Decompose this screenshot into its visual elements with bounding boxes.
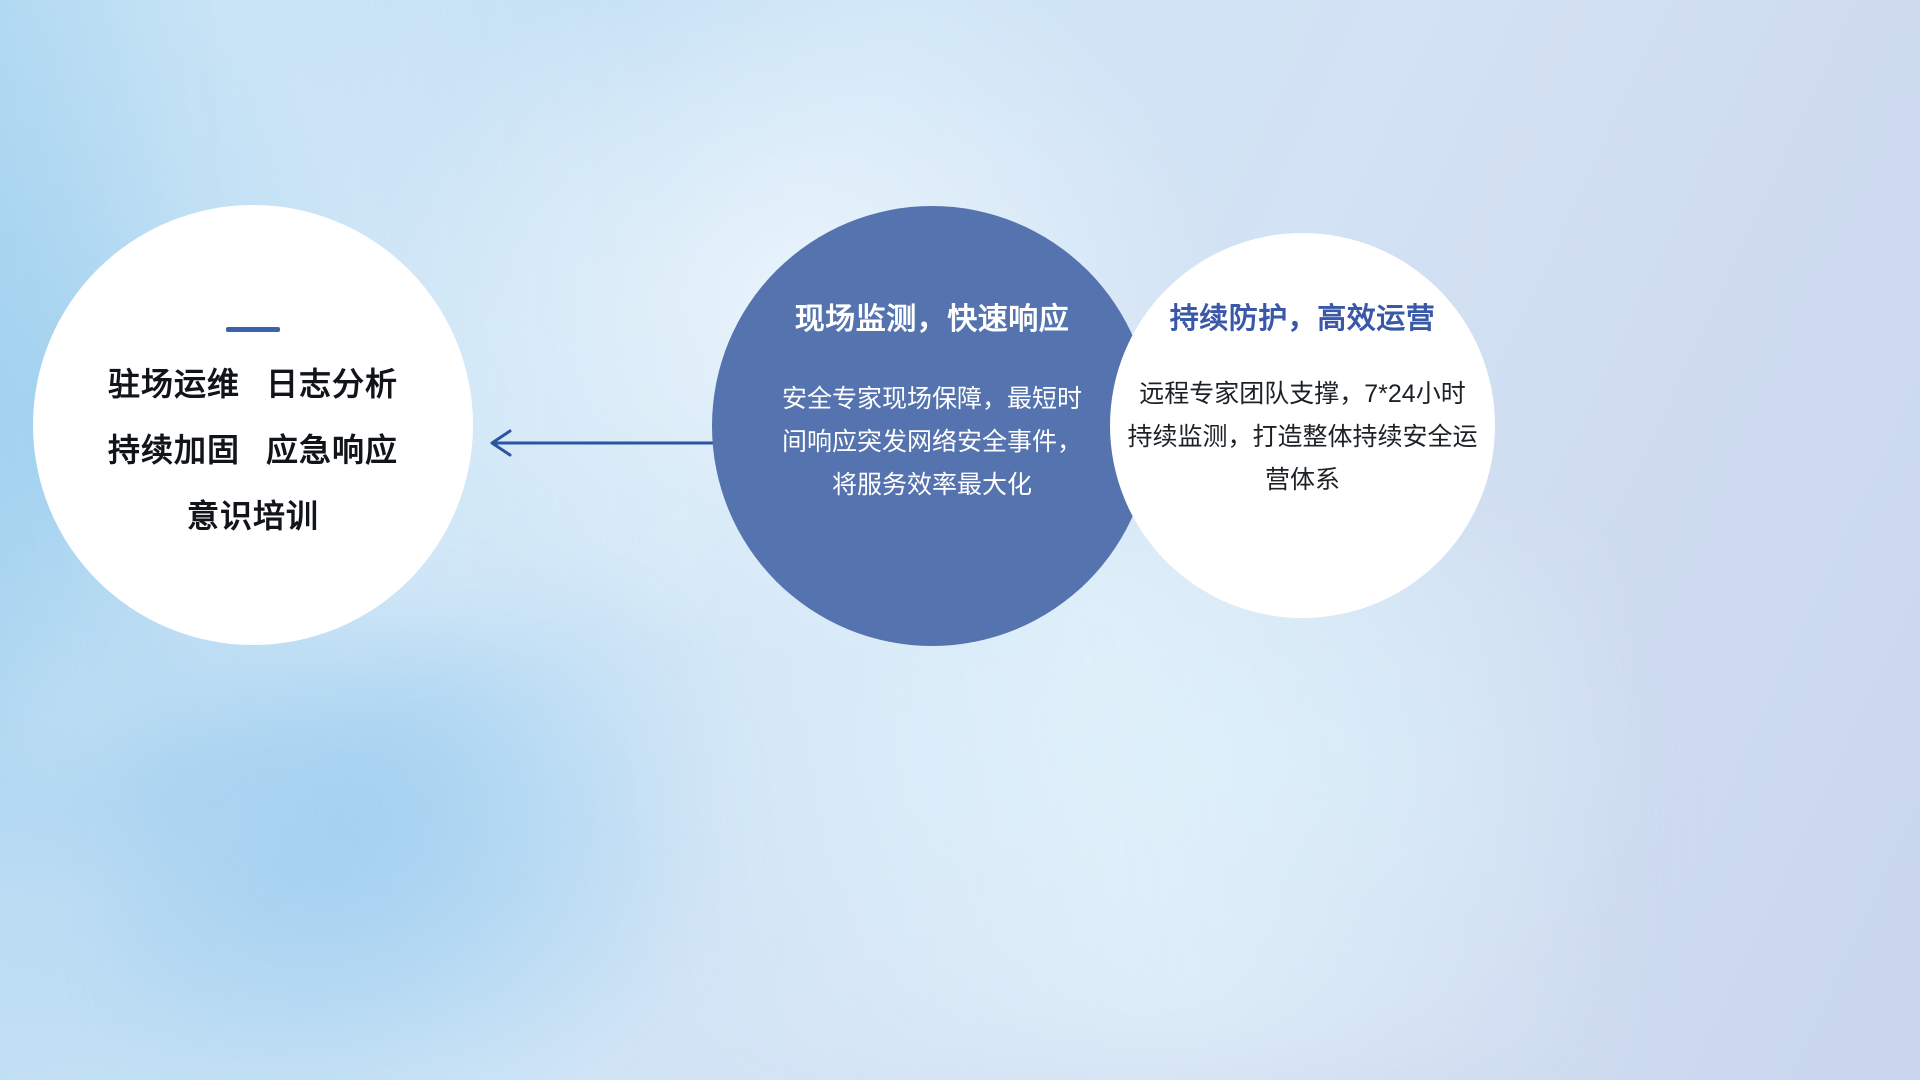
background-sheen-bottom: [640, 520, 1620, 1080]
capabilities-circle[interactable]: 驻场运维日志分析 持续加固应急响应 意识培训: [33, 205, 473, 645]
continuous-circle-title: 持续防护，高效运营: [1170, 295, 1436, 337]
accent-dash-icon: [226, 327, 280, 332]
flow-arrow: [480, 418, 720, 470]
slide-canvas: 驻场运维日志分析 持续加固应急响应 意识培训 现场监测，快速响应 安全专家现场保…: [0, 0, 1920, 1080]
onsite-circle-body: 安全专家现场保障，最短时间响应突发网络安全事件，将服务效率最大化: [782, 378, 1082, 507]
list-item: 驻场运维日志分析: [33, 368, 473, 400]
capability-tag: 应急响应: [266, 432, 398, 468]
capability-tag: 意识培训: [187, 498, 319, 534]
list-item: 意识培训: [33, 500, 473, 532]
onsite-monitoring-circle[interactable]: 现场监测，快速响应 安全专家现场保障，最短时间响应突发网络安全事件，将服务效率最…: [712, 206, 1152, 646]
capability-tag: 驻场运维: [108, 366, 240, 402]
background-glow-lower-left: [120, 600, 740, 1080]
capability-tag: 持续加固: [108, 432, 240, 468]
continuous-operation-circle[interactable]: 持续防护，高效运营 远程专家团队支撑，7*24小时持续监测，打造整体持续安全运营…: [1110, 233, 1495, 618]
continuous-circle-body: 远程专家团队支撑，7*24小时持续监测，打造整体持续安全运营体系: [1128, 373, 1478, 502]
capability-tag-list: 驻场运维日志分析 持续加固应急响应 意识培训: [33, 368, 473, 532]
list-item: 持续加固应急响应: [33, 434, 473, 466]
capability-tag: 日志分析: [266, 366, 398, 402]
onsite-circle-title: 现场监测，快速响应: [795, 294, 1070, 338]
